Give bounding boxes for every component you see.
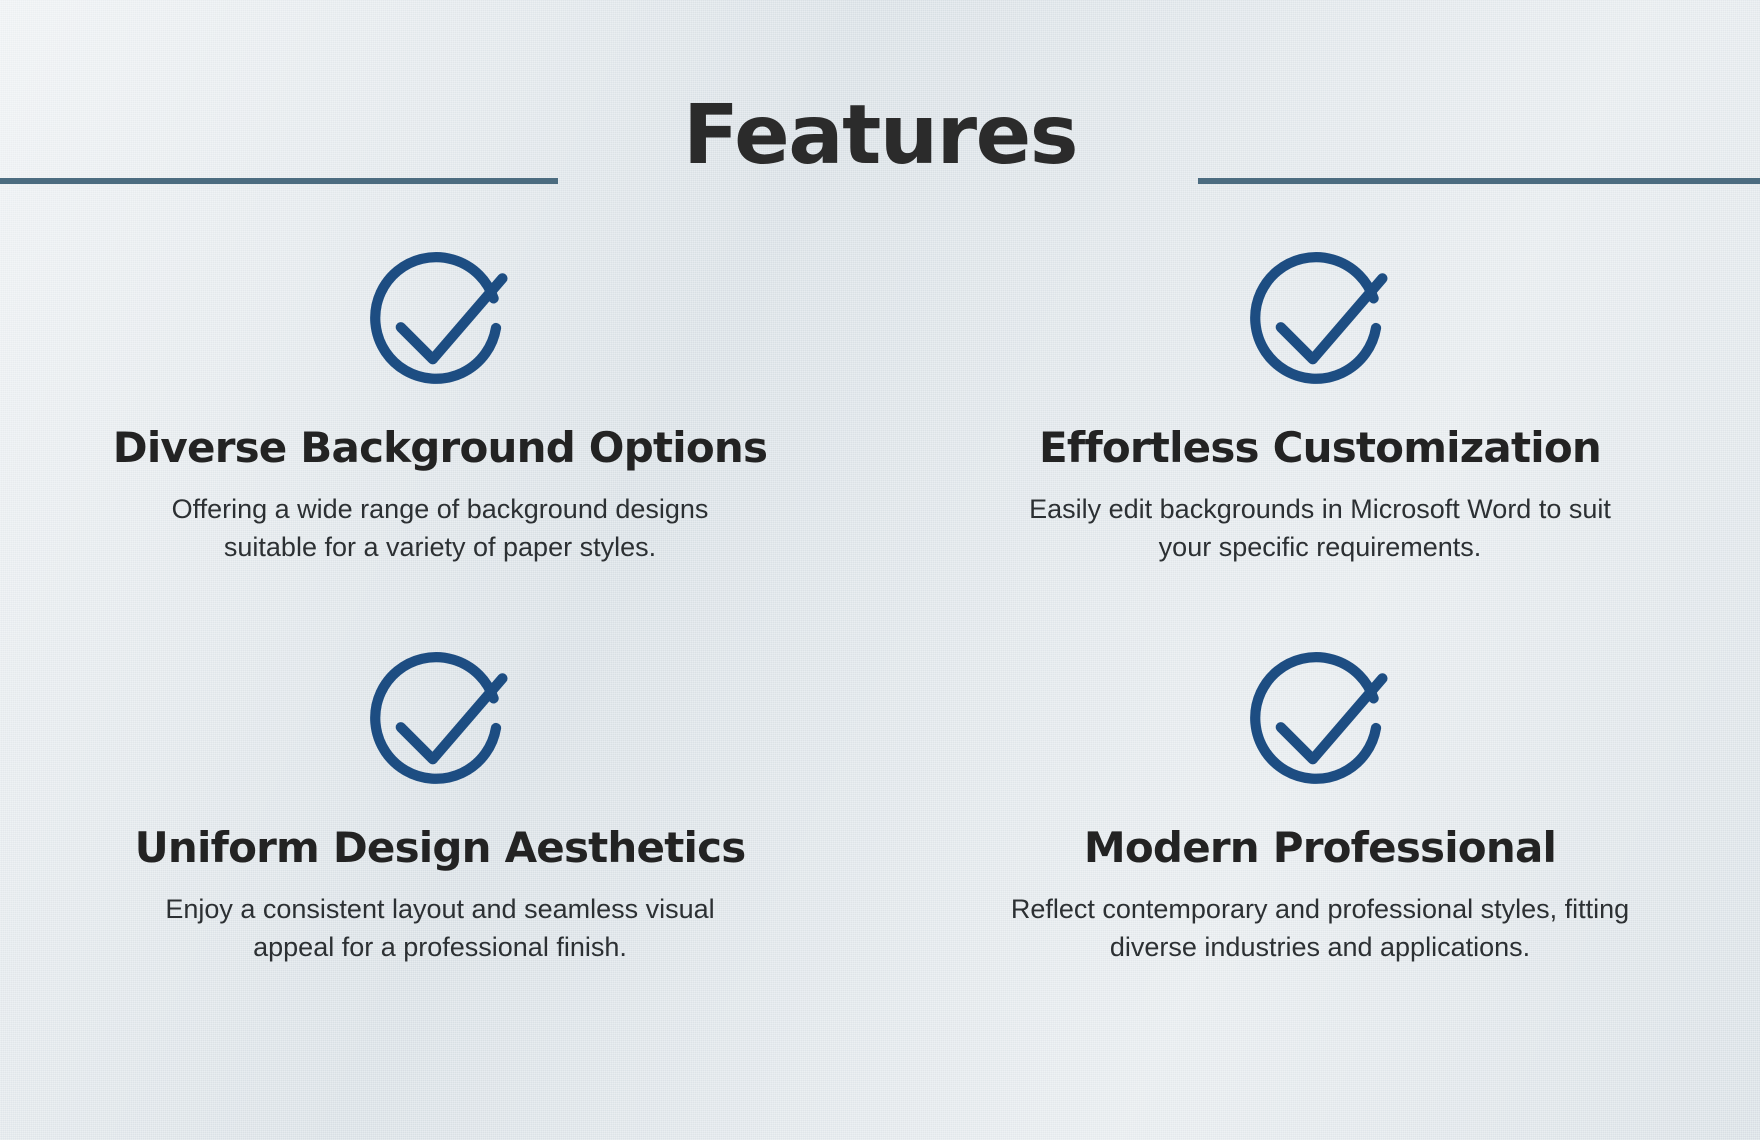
feature-title: Modern Professional — [1084, 826, 1556, 870]
page-title: Features — [0, 95, 1760, 177]
feature-description: Reflect contemporary and professional st… — [1010, 890, 1630, 967]
feature-description: Easily edit backgrounds in Microsoft Wor… — [1010, 490, 1630, 567]
feature-title: Diverse Background Options — [113, 426, 767, 470]
check-circle-icon — [360, 640, 520, 800]
header-rule-right — [1198, 178, 1760, 184]
feature-title: Effortless Customization — [1039, 426, 1601, 470]
features-grid: Diverse Background Options Offering a wi… — [0, 240, 1760, 1040]
feature-card: Diverse Background Options Offering a wi… — [0, 240, 880, 640]
check-circle-icon — [1240, 640, 1400, 800]
feature-card: Modern Professional Reflect contemporary… — [880, 640, 1760, 1040]
header-rule-left — [0, 178, 558, 184]
check-circle-icon — [1240, 240, 1400, 400]
feature-description: Enjoy a consistent layout and seamless v… — [130, 890, 750, 967]
check-circle-icon — [360, 240, 520, 400]
feature-description: Offering a wide range of background desi… — [130, 490, 750, 567]
slide-header: Features — [0, 0, 1760, 215]
feature-title: Uniform Design Aesthetics — [135, 826, 746, 870]
feature-card: Effortless Customization Easily edit bac… — [880, 240, 1760, 640]
feature-card: Uniform Design Aesthetics Enjoy a consis… — [0, 640, 880, 1040]
